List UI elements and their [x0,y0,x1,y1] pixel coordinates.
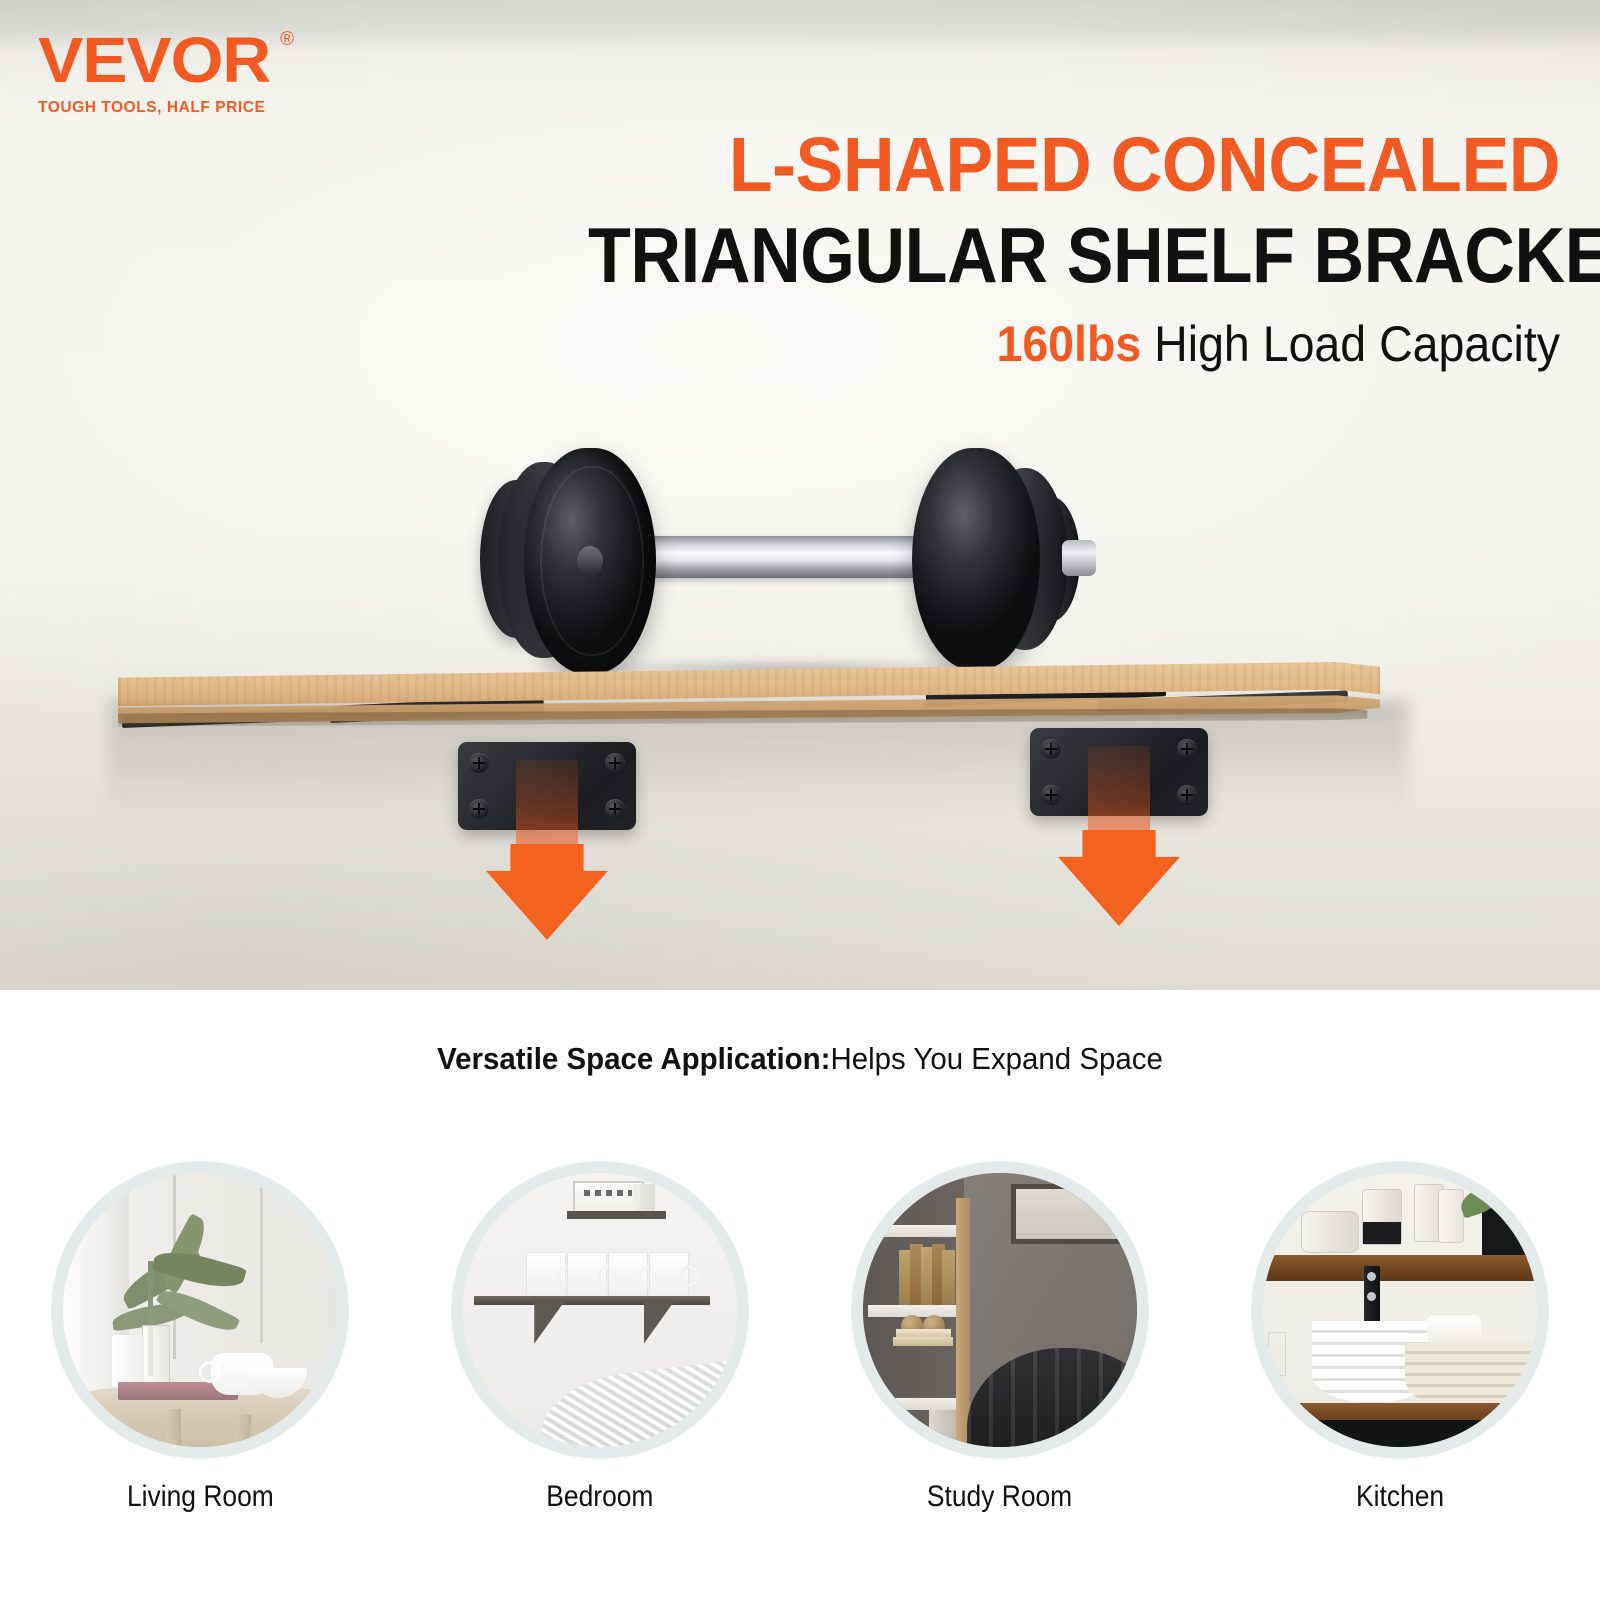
triangular-bracket-icon [644,1302,674,1344]
wooden-shelf-upper [1252,1255,1548,1281]
application-item-living-room: Living Room [35,1162,365,1514]
bookcase-shelf [868,1225,961,1237]
application-photo-kitchen [1252,1162,1548,1458]
application-label: Study Room [927,1480,1072,1514]
registered-mark-icon: ® [280,30,293,49]
application-item-study-room: Study Room [835,1162,1165,1514]
application-label: Bedroom [546,1480,653,1514]
load-capacity-label: High Load Capacity [1141,316,1560,372]
brand-logo: VEVOR® TOUGH TOOLS, HALF PRICE [38,28,265,117]
glass-tumbler [1268,1332,1286,1376]
wall-shelf [474,1296,710,1305]
white-mug [526,1252,566,1300]
upper-ledge-shelf [567,1211,666,1219]
scene-living-room [63,1173,337,1447]
hero-banner: VEVOR® TOUGH TOOLS, HALF PRICE L-SHAPED … [0,0,1600,990]
dark-cabinet-base [1252,1420,1548,1447]
scene-bedroom [463,1173,737,1447]
arrow-head [486,844,608,940]
application-item-kitchen: Kitchen [1235,1162,1565,1514]
applications-title: Versatile Space Application:Helps You Ex… [40,1040,1560,1077]
wall-panel-line [260,1173,263,1343]
stacked-plates [1405,1343,1548,1403]
framed-artwork [1011,1184,1148,1244]
application-list: Living Room Be [0,1162,1600,1514]
application-photo-bedroom [452,1162,748,1458]
headline-subhead: 160lbs High Load Capacity [556,318,1560,371]
load-direction-arrow-icon [486,760,608,940]
scene-study-room [863,1173,1137,1447]
headline-line-2: TRIANGULAR SHELF BRACKET [588,217,1560,293]
brand-tagline: TOUGH TOOLS, HALF PRICE [38,99,265,117]
dumbbell-end-cap [1062,540,1096,576]
white-mug [608,1252,648,1300]
dumbbell-plate-ring [540,466,644,656]
glass-jar [1438,1189,1464,1243]
white-mug [649,1252,689,1300]
table-leg [167,1409,181,1447]
headline-line-1: L-SHAPED CONCEALED [556,128,1560,203]
load-direction-arrow-icon [1058,746,1180,926]
scene-kitchen [1263,1173,1537,1447]
wood-edge-trim [956,1198,970,1447]
screw-icon [605,753,625,773]
glass-vase [142,1325,170,1387]
dumbbell-bar [646,536,936,578]
applications-title-regular: Helps You Expand Space [830,1041,1162,1076]
applications-title-bold: Versatile Space Application: [437,1041,830,1076]
load-capacity-value: 160lbs [996,316,1141,372]
application-label: Living Room [127,1480,274,1514]
white-mug [567,1252,607,1300]
application-photo-study-room [852,1162,1148,1458]
glass-jar [1301,1211,1359,1253]
headline-block: L-SHAPED CONCEALED TRIANGULAR SHELF BRAC… [480,128,1560,370]
book-on-ledge [633,1184,655,1214]
book-spine [942,1250,955,1305]
application-label: Kitchen [1356,1480,1444,1514]
application-photo-living-room [52,1162,348,1458]
screw-icon [1177,785,1197,805]
triangular-bracket-icon [534,1302,564,1344]
white-candle [112,1335,144,1387]
dumbbell-plate-right-front [912,448,1040,670]
stacked-book [893,1337,953,1346]
screw-icon [1177,739,1197,759]
stacked-book [896,1329,951,1337]
brand-wordmark: VEVOR® [38,28,270,92]
bookcase-shelf [868,1398,961,1410]
arrow-head [1058,830,1180,926]
screw-icon [605,799,625,819]
black-shelf-bracket-icon [1364,1266,1380,1326]
application-item-bedroom: Bedroom [435,1162,765,1514]
applications-section: Versatile Space Application:Helps You Ex… [0,990,1600,1600]
dumbbell-illustration [462,440,1102,680]
glass-jar [1362,1189,1402,1245]
table-leg [234,1413,251,1447]
